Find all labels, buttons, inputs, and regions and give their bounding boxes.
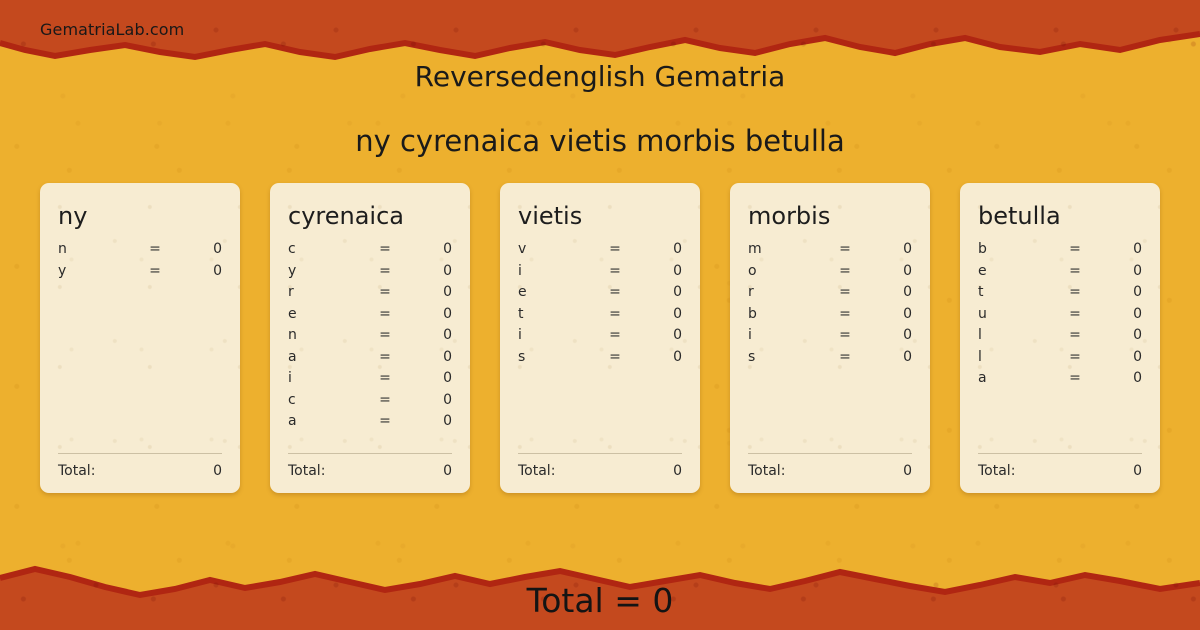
equals-sign: = xyxy=(364,327,406,343)
card-total-row: Total:0 xyxy=(288,463,452,479)
equals-sign: = xyxy=(594,349,636,365)
letter-value: 0 xyxy=(406,263,452,279)
card-separator xyxy=(288,453,452,454)
letter-char: o xyxy=(748,263,824,279)
equals-sign: = xyxy=(824,306,866,322)
equals-sign: = xyxy=(594,284,636,300)
equals-sign: = xyxy=(1054,241,1096,257)
letter-row: c=0 xyxy=(288,241,452,263)
letter-row: y=0 xyxy=(288,263,452,285)
card-word-title: betulla xyxy=(978,203,1142,229)
letter-row: t=0 xyxy=(978,284,1142,306)
card-word-title: morbis xyxy=(748,203,912,229)
card-total-label: Total: xyxy=(748,463,785,479)
letter-row: o=0 xyxy=(748,263,912,285)
equals-sign: = xyxy=(134,263,176,279)
letter-value: 0 xyxy=(176,241,222,257)
equals-sign: = xyxy=(1054,327,1096,343)
letter-value: 0 xyxy=(1096,370,1142,386)
word-card: betullab=0e=0t=0u=0l=0l=0a=0Total:0 xyxy=(960,183,1160,493)
letter-char: c xyxy=(288,392,364,408)
letter-char: y xyxy=(58,263,134,279)
letter-value-table: v=0i=0e=0t=0i=0s=0 xyxy=(518,241,682,453)
letter-row: n=0 xyxy=(58,241,222,263)
equals-sign: = xyxy=(594,263,636,279)
equals-sign: = xyxy=(824,349,866,365)
letter-value: 0 xyxy=(866,349,912,365)
letter-char: a xyxy=(288,413,364,429)
letter-row: i=0 xyxy=(288,370,452,392)
letter-row: l=0 xyxy=(978,327,1142,349)
letter-value: 0 xyxy=(636,263,682,279)
letter-row: b=0 xyxy=(748,306,912,328)
card-total-value: 0 xyxy=(213,463,222,479)
letter-char: i xyxy=(518,327,594,343)
letter-char: c xyxy=(288,241,364,257)
letter-row: i=0 xyxy=(748,327,912,349)
letter-value: 0 xyxy=(1096,327,1142,343)
letter-value: 0 xyxy=(1096,284,1142,300)
letter-row: e=0 xyxy=(288,306,452,328)
equals-sign: = xyxy=(824,284,866,300)
letter-value: 0 xyxy=(406,413,452,429)
letter-row: e=0 xyxy=(518,284,682,306)
letter-char: l xyxy=(978,349,1054,365)
letter-value: 0 xyxy=(866,327,912,343)
grand-total-label: Total = 0 xyxy=(0,581,1200,620)
letter-value: 0 xyxy=(866,306,912,322)
equals-sign: = xyxy=(1054,349,1096,365)
equals-sign: = xyxy=(364,241,406,257)
equals-sign: = xyxy=(594,327,636,343)
poster-canvas: GematriaLab.com Reversedenglish Gematria… xyxy=(0,0,1200,630)
card-separator xyxy=(748,453,912,454)
letter-value: 0 xyxy=(406,349,452,365)
letter-value: 0 xyxy=(1096,306,1142,322)
equals-sign: = xyxy=(364,306,406,322)
card-total-row: Total:0 xyxy=(58,463,222,479)
letter-row: u=0 xyxy=(978,306,1142,328)
letter-char: a xyxy=(288,349,364,365)
letter-char: r xyxy=(288,284,364,300)
equals-sign: = xyxy=(364,392,406,408)
card-separator xyxy=(978,453,1142,454)
equals-sign: = xyxy=(824,327,866,343)
letter-char: i xyxy=(288,370,364,386)
letter-value: 0 xyxy=(636,327,682,343)
letter-row: a=0 xyxy=(978,370,1142,392)
card-total-label: Total: xyxy=(288,463,325,479)
letter-char: e xyxy=(518,284,594,300)
card-total-label: Total: xyxy=(58,463,95,479)
letter-value: 0 xyxy=(406,306,452,322)
letter-row: v=0 xyxy=(518,241,682,263)
card-word-title: cyrenaica xyxy=(288,203,452,229)
letter-row: n=0 xyxy=(288,327,452,349)
card-word-title: vietis xyxy=(518,203,682,229)
letter-char: b xyxy=(978,241,1054,257)
letter-row: s=0 xyxy=(518,349,682,371)
letter-value: 0 xyxy=(636,349,682,365)
card-separator xyxy=(58,453,222,454)
letter-char: n xyxy=(288,327,364,343)
equals-sign: = xyxy=(594,306,636,322)
equals-sign: = xyxy=(134,241,176,257)
letter-value: 0 xyxy=(406,284,452,300)
letter-char: e xyxy=(978,263,1054,279)
letter-char: i xyxy=(748,327,824,343)
letter-value-table: c=0y=0r=0e=0n=0a=0i=0c=0a=0 xyxy=(288,241,452,453)
letter-char: i xyxy=(518,263,594,279)
letter-char: b xyxy=(748,306,824,322)
letter-value: 0 xyxy=(636,306,682,322)
card-word-title: ny xyxy=(58,203,222,229)
letter-row: a=0 xyxy=(288,349,452,371)
letter-value: 0 xyxy=(636,284,682,300)
letter-value: 0 xyxy=(866,284,912,300)
equals-sign: = xyxy=(364,413,406,429)
letter-value: 0 xyxy=(406,327,452,343)
card-total-value: 0 xyxy=(443,463,452,479)
word-card: cyrenaicac=0y=0r=0e=0n=0a=0i=0c=0a=0Tota… xyxy=(270,183,470,493)
letter-value-table: m=0o=0r=0b=0i=0s=0 xyxy=(748,241,912,453)
letter-char: s xyxy=(518,349,594,365)
equals-sign: = xyxy=(1054,370,1096,386)
letter-char: t xyxy=(518,306,594,322)
letter-row: i=0 xyxy=(518,327,682,349)
letter-row: m=0 xyxy=(748,241,912,263)
letter-value: 0 xyxy=(1096,349,1142,365)
word-card: vietisv=0i=0e=0t=0i=0s=0Total:0 xyxy=(500,183,700,493)
equals-sign: = xyxy=(364,349,406,365)
letter-value: 0 xyxy=(406,370,452,386)
letter-char: r xyxy=(748,284,824,300)
equals-sign: = xyxy=(364,370,406,386)
letter-value: 0 xyxy=(406,392,452,408)
equals-sign: = xyxy=(1054,263,1096,279)
equals-sign: = xyxy=(594,241,636,257)
card-total-value: 0 xyxy=(903,463,912,479)
equals-sign: = xyxy=(1054,284,1096,300)
letter-value: 0 xyxy=(176,263,222,279)
letter-char: u xyxy=(978,306,1054,322)
letter-row: c=0 xyxy=(288,392,452,414)
letter-row: y=0 xyxy=(58,263,222,285)
letter-value-table: b=0e=0t=0u=0l=0l=0a=0 xyxy=(978,241,1142,453)
letter-value: 0 xyxy=(1096,241,1142,257)
letter-value: 0 xyxy=(866,263,912,279)
card-separator xyxy=(518,453,682,454)
letter-row: l=0 xyxy=(978,349,1142,371)
card-total-label: Total: xyxy=(978,463,1015,479)
letter-char: v xyxy=(518,241,594,257)
letter-value: 0 xyxy=(1096,263,1142,279)
page-subtitle-phrase: ny cyrenaica vietis morbis betulla xyxy=(0,124,1200,158)
equals-sign: = xyxy=(824,263,866,279)
word-card: nyn=0y=0Total:0 xyxy=(40,183,240,493)
letter-row: i=0 xyxy=(518,263,682,285)
letter-char: y xyxy=(288,263,364,279)
equals-sign: = xyxy=(364,263,406,279)
letter-row: t=0 xyxy=(518,306,682,328)
letter-value: 0 xyxy=(866,241,912,257)
equals-sign: = xyxy=(1054,306,1096,322)
card-total-row: Total:0 xyxy=(518,463,682,479)
letter-row: r=0 xyxy=(288,284,452,306)
equals-sign: = xyxy=(824,241,866,257)
card-total-label: Total: xyxy=(518,463,555,479)
word-card-list: nyn=0y=0Total:0cyrenaicac=0y=0r=0e=0n=0a… xyxy=(40,183,1160,493)
letter-row: r=0 xyxy=(748,284,912,306)
letter-value-table: n=0y=0 xyxy=(58,241,222,453)
letter-char: l xyxy=(978,327,1054,343)
card-total-row: Total:0 xyxy=(978,463,1142,479)
letter-char: t xyxy=(978,284,1054,300)
letter-char: n xyxy=(58,241,134,257)
letter-row: e=0 xyxy=(978,263,1142,285)
equals-sign: = xyxy=(364,284,406,300)
page-title: Reversedenglish Gematria xyxy=(0,60,1200,93)
letter-value: 0 xyxy=(406,241,452,257)
letter-row: a=0 xyxy=(288,413,452,435)
card-total-row: Total:0 xyxy=(748,463,912,479)
letter-char: s xyxy=(748,349,824,365)
letter-value: 0 xyxy=(636,241,682,257)
letter-char: m xyxy=(748,241,824,257)
card-total-value: 0 xyxy=(1133,463,1142,479)
letter-row: s=0 xyxy=(748,349,912,371)
site-brand-label[interactable]: GematriaLab.com xyxy=(40,20,184,39)
letter-char: e xyxy=(288,306,364,322)
card-total-value: 0 xyxy=(673,463,682,479)
letter-row: b=0 xyxy=(978,241,1142,263)
word-card: morbism=0o=0r=0b=0i=0s=0Total:0 xyxy=(730,183,930,493)
letter-char: a xyxy=(978,370,1054,386)
